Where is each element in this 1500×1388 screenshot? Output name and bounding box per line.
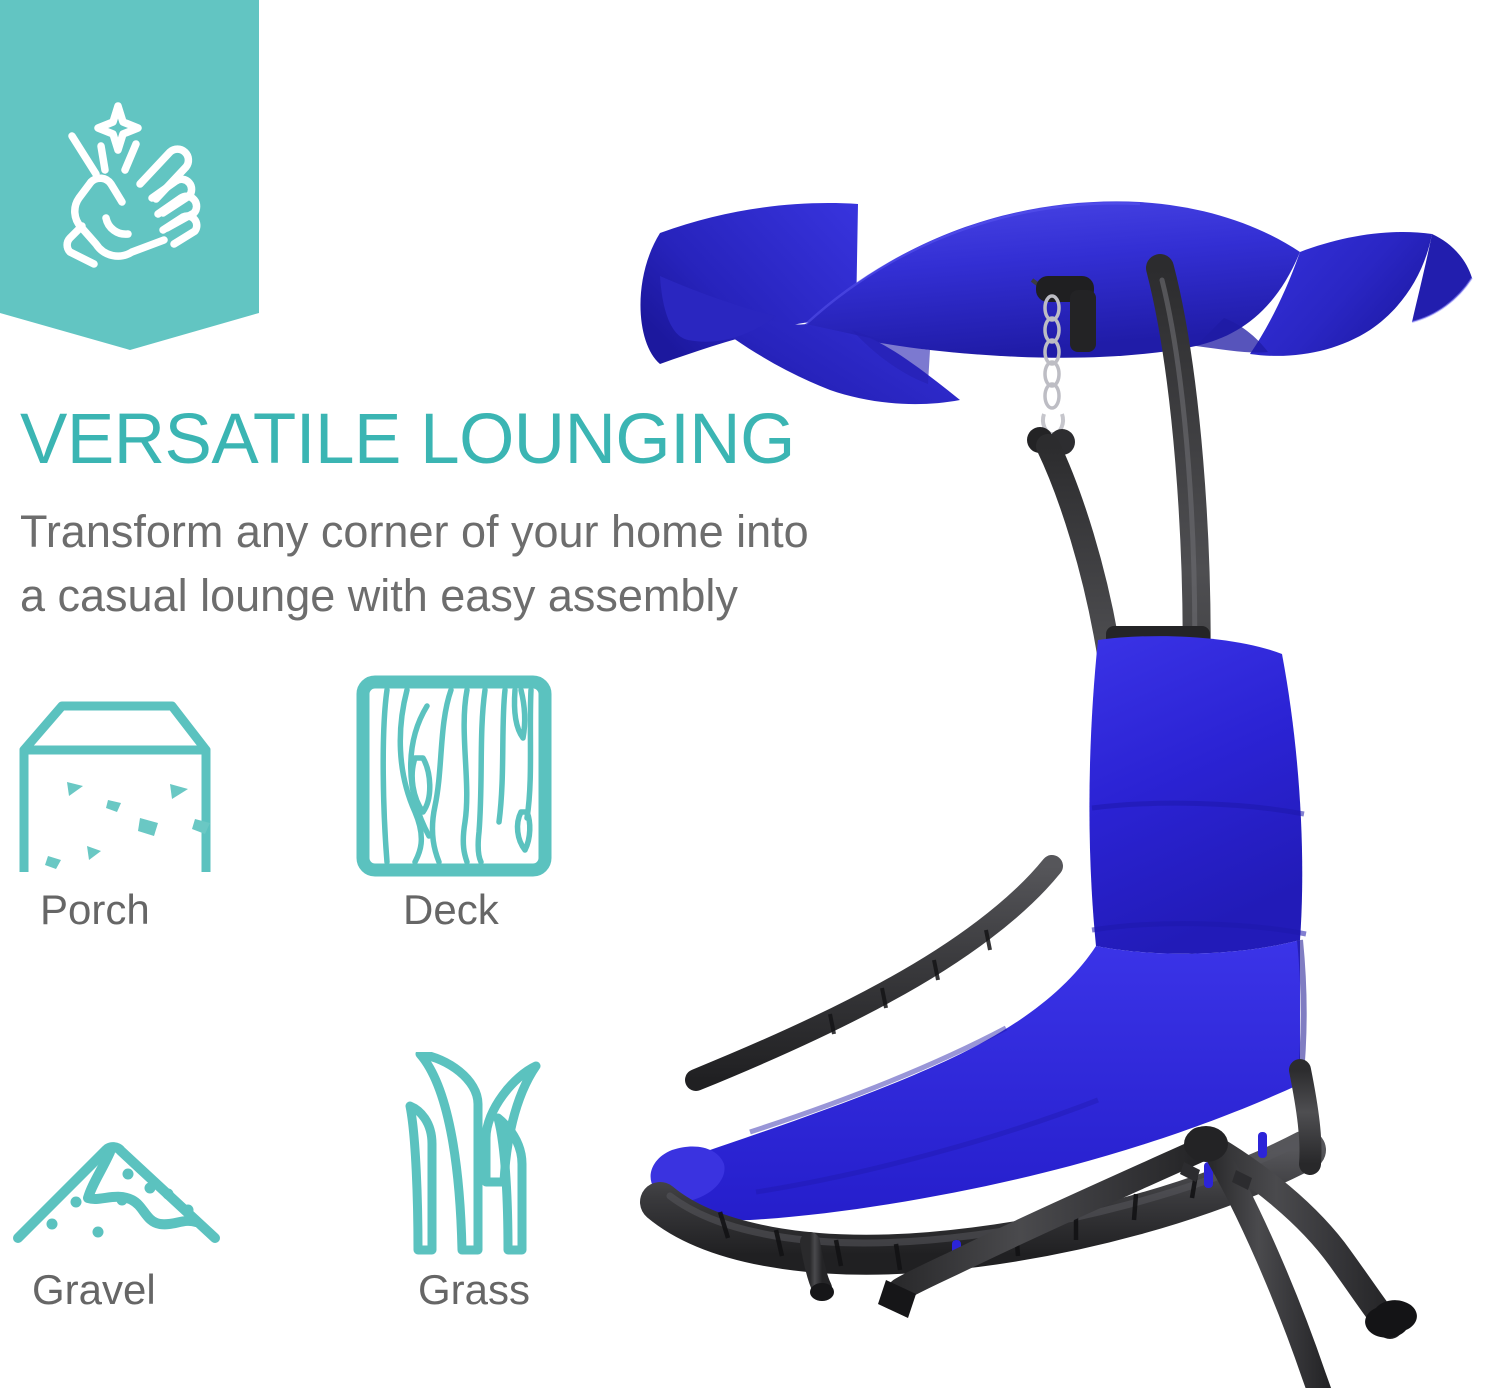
surface-label-gravel: Gravel	[32, 1268, 280, 1312]
concrete-slab-icon	[10, 672, 280, 882]
gravel-mound-icon	[10, 1052, 280, 1262]
surface-label-deck: Deck	[403, 888, 625, 932]
surface-label-porch: Porch	[40, 888, 280, 932]
feature-badge-ribbon	[0, 0, 259, 350]
surface-item-gravel: Gravel	[10, 1052, 280, 1312]
canopy-umbrella	[640, 201, 1472, 404]
surface-item-deck: Deck	[355, 672, 625, 932]
surface-icon-grid: Porch	[0, 672, 600, 1352]
promo-page: VERSATILE LOUNGING Transform any corner …	[0, 0, 1500, 1388]
wood-grain-icon	[355, 672, 625, 882]
surface-item-porch: Porch	[10, 672, 280, 932]
product-image-hanging-chaise-lounge	[600, 140, 1500, 1388]
snapping-fingers-icon	[44, 78, 216, 268]
